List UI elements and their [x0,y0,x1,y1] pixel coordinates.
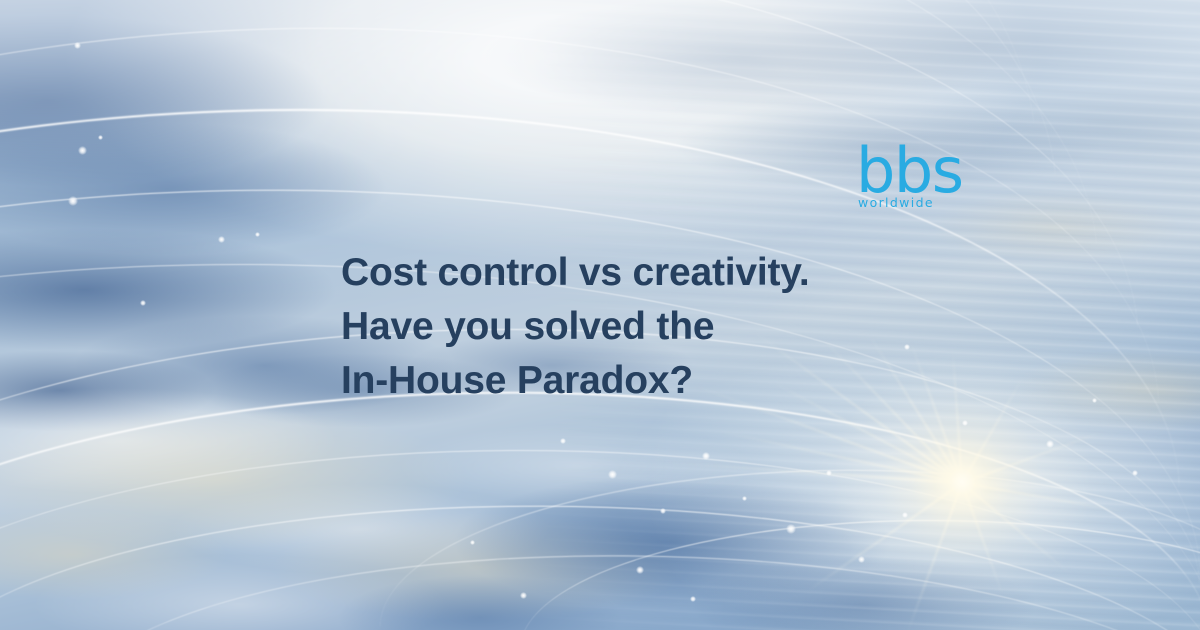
sparkle [786,524,796,534]
sparkle [702,452,710,460]
sparkle [520,592,527,599]
sparkle [1046,440,1054,448]
sparkle [74,42,81,49]
sparkle [690,596,696,602]
sparkle [962,420,968,426]
sparkle [218,236,225,243]
sparkle [68,196,78,206]
sparkle [1132,470,1138,476]
sparkle [470,540,475,545]
sparkle [858,556,865,563]
sparkle [826,470,832,476]
bbs-worldwide-logo[interactable]: bbs worldwide [856,140,956,216]
sparkle [78,146,87,155]
social-banner: Cost control vs creativity. Have you sol… [0,0,1200,630]
sparkle [255,232,260,237]
sparkle [636,566,644,574]
sparkle [902,512,908,518]
headline-line-3: In-House Paradox? [341,354,810,408]
sparkle [560,438,566,444]
sparkle [608,470,617,479]
sparkle [98,135,103,140]
logo-tagline: worldwide [858,196,934,209]
sparkle [904,344,910,350]
sparkle [140,300,146,306]
sparkle [1092,398,1097,403]
headline: Cost control vs creativity. Have you sol… [341,246,810,408]
sparkle [742,496,747,501]
headline-line-1: Cost control vs creativity. [341,246,810,300]
headline-line-2: Have you solved the [341,300,810,354]
sparkle [660,508,666,514]
logo-wordmark: bbs [856,140,956,202]
